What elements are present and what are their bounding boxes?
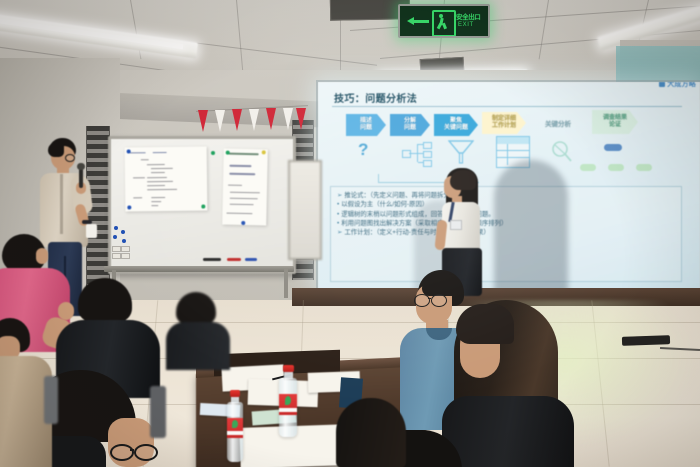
badge [450,220,462,230]
attendee-back1-hair [78,278,132,322]
attendee-near-table [336,398,406,467]
water-bottle-2 [278,365,298,437]
pennant-7 [296,108,306,130]
marker-red [227,258,241,261]
water-bottle-1 [226,390,244,462]
wristwatch [82,220,92,224]
pennant-5 [266,108,276,130]
wall-upper-teal-strip [616,46,700,82]
magnet-green-2 [211,151,215,155]
running-man-icon [432,10,456,37]
whiteboard-tray [104,266,294,272]
magnet-yellow-1 [262,150,266,154]
exit-sign-label-en: EXIT [458,22,474,28]
pennant-6 [283,108,293,130]
chair-back-1 [44,376,58,424]
handheld-device [86,224,97,238]
magnet-blue-1 [127,149,131,153]
bottle-label-2 [279,394,297,415]
marker-black [203,258,221,261]
pennant-string [196,108,306,136]
whiteboard-leg-right [284,268,288,298]
marker-blue [245,258,257,261]
floor-object-black [622,335,670,346]
bottle-label-1 [227,418,243,438]
magnet-blue-2 [127,205,131,209]
emergency-exit-sign: 安全出口 EXIT [398,4,490,38]
magnet-blue-3 [241,221,245,225]
attendee-front-glasses [110,444,156,458]
bottle-cap-1 [230,390,240,397]
whiteboard [108,136,296,274]
secondary-board [288,160,322,260]
exit-sign-label-cn: 安全出口 [456,11,480,21]
flipchart-paper-right [222,149,268,226]
microphone-head-icon [77,163,85,170]
projection-screen-frame [316,80,700,300]
pennant-4 [249,109,259,131]
photo-scene: 安全出口 EXIT 技巧：问题分析法 大成方略 描述 问题 分解 问题 聚焦 关… [0,0,700,467]
magnet-cluster [112,226,134,262]
pennant-1 [198,110,208,132]
pennant-3 [232,109,242,131]
attendee-back-row-2 [166,292,230,370]
chair-back-2 [150,386,166,438]
magnet-green-3 [226,151,230,155]
presenter-left-glasses [65,154,75,162]
exit-arrow-left-icon [407,17,429,25]
flipchart-paper-left [125,147,208,212]
attendee-woman-top [442,396,574,467]
magnet-green-1 [201,205,205,209]
pennant-2 [215,110,225,132]
attendee-foreground-woman [442,300,582,467]
bottle-cap-2 [283,365,294,372]
